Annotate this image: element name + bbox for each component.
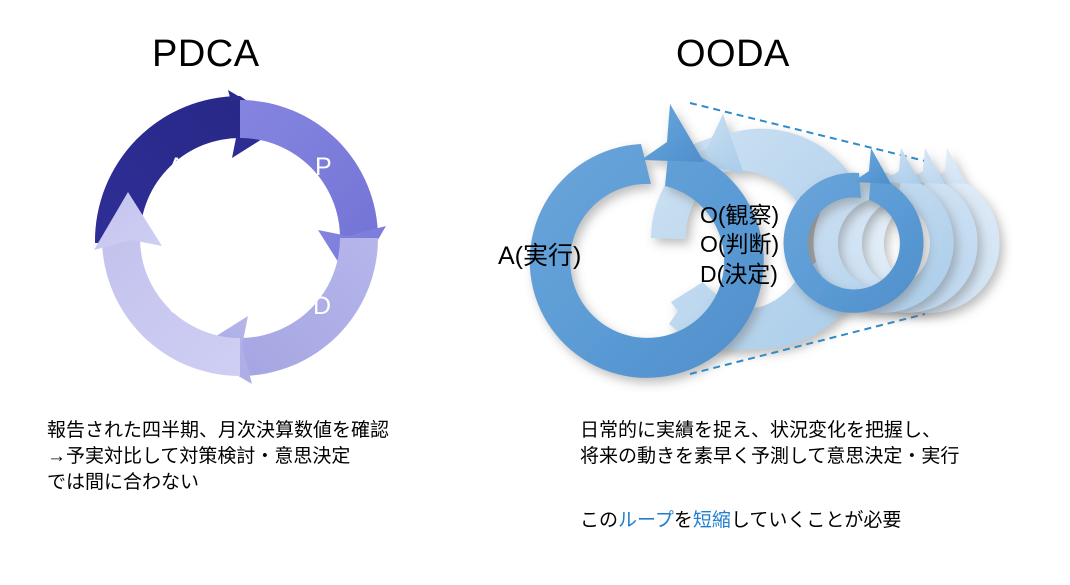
emphasis-part-1: この bbox=[580, 510, 618, 531]
pdca-caption-line3: では間に合わない bbox=[47, 470, 389, 496]
ooda-label-observe: O(観察) bbox=[700, 201, 779, 230]
pdca-letter-c: C bbox=[168, 294, 186, 319]
ooda-label-decide: D(決定) bbox=[700, 260, 779, 289]
emphasis-loop-word: ループ bbox=[618, 510, 674, 531]
emphasis-part-5: していくことが必要 bbox=[731, 510, 901, 531]
pdca-letter-a: A bbox=[168, 155, 185, 180]
pdca-caption: 報告された四半期、月次決算数値を確認 →予実対比して対策検討・意思決定 では間に… bbox=[47, 418, 389, 496]
ooda-caption-line1: 日常的に実績を捉え、状況変化を把握し、 bbox=[580, 418, 959, 444]
ooda-label-orient: O(判断) bbox=[700, 230, 779, 259]
ooda-caption-line2: 将来の動きを素早く予測して意思決定・実行 bbox=[580, 444, 959, 470]
ooda-title: OODA bbox=[676, 33, 790, 76]
pdca-letter-p: P bbox=[315, 155, 332, 180]
ooda-label-observe-orient-decide: O(観察) O(判断) D(決定) bbox=[700, 201, 779, 289]
ooda-emphasis-caption: このループを短縮していくことが必要 bbox=[580, 508, 901, 534]
emphasis-part-3: を bbox=[674, 510, 693, 531]
ooda-label-action: A(実行) bbox=[498, 236, 581, 272]
pdca-caption-line2: →予実対比して対策検討・意思決定 bbox=[47, 444, 389, 470]
emphasis-shorten-word: 短縮 bbox=[693, 510, 731, 531]
slide-canvas: PDCA bbox=[0, 0, 1070, 585]
pdca-letter-d: D bbox=[313, 294, 331, 319]
pdca-cycle-diagram bbox=[90, 88, 390, 388]
pdca-title: PDCA bbox=[152, 33, 260, 76]
ooda-caption: 日常的に実績を捉え、状況変化を把握し、 将来の動きを素早く予測して意思決定・実行 bbox=[580, 418, 959, 470]
pdca-caption-line1: 報告された四半期、月次決算数値を確認 bbox=[47, 418, 389, 444]
pdca-segment-c bbox=[94, 192, 240, 376]
